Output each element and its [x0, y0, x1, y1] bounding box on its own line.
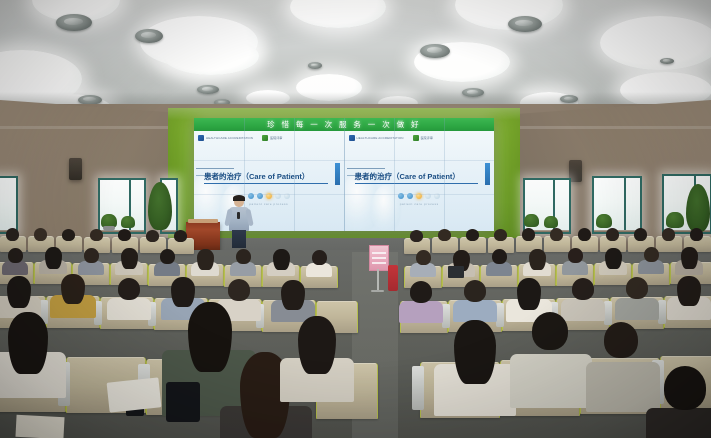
step-dot-active	[266, 193, 272, 199]
hair	[273, 249, 290, 270]
wall-speaker-left	[69, 158, 82, 180]
torso	[510, 354, 592, 408]
hair	[281, 280, 305, 310]
torso	[230, 262, 256, 276]
plant-pot-left	[103, 226, 115, 231]
head	[662, 228, 675, 241]
slide-title: 患者的治疗（Care of Patient）	[355, 171, 479, 184]
notebook-on-lap	[107, 377, 162, 412]
head	[160, 249, 175, 264]
logo-secondary-label: 医院评审	[270, 137, 282, 140]
seat-armrest	[412, 366, 424, 410]
torso	[638, 260, 664, 274]
head	[690, 228, 703, 241]
head	[492, 249, 507, 264]
logo-secondary: 医院评审	[413, 135, 433, 141]
audience-member	[4, 248, 26, 272]
audience-member	[118, 247, 140, 272]
step-dot	[434, 193, 440, 199]
hair	[188, 302, 232, 372]
audience-member-foreground	[0, 312, 56, 384]
audience-member	[34, 228, 48, 242]
audience-member	[62, 229, 76, 242]
torso	[486, 262, 512, 276]
head	[532, 312, 568, 350]
head	[604, 322, 638, 358]
hair	[121, 248, 138, 269]
head	[438, 229, 451, 241]
audience-member	[522, 228, 536, 242]
logo-mark-icon	[198, 135, 204, 141]
plant-right-4	[666, 212, 684, 228]
sign-base	[371, 290, 384, 292]
torso	[78, 261, 104, 275]
seat-armrest	[658, 300, 666, 324]
window-mullion	[624, 178, 626, 232]
ceiling-light	[600, 16, 711, 70]
head	[8, 248, 23, 263]
logo-primary: HEALTHCARE ACCREDITATION	[349, 135, 404, 141]
audience-member	[488, 249, 510, 273]
head	[146, 230, 159, 242]
plant-right-2	[544, 216, 558, 228]
ceiling-light	[290, 0, 386, 28]
audience-member	[678, 246, 700, 272]
audience-member	[512, 278, 546, 316]
audience-member	[564, 248, 586, 272]
audience-member-foreground	[446, 320, 504, 398]
plant-left-2	[121, 216, 135, 228]
hair	[677, 276, 701, 306]
ceiling-dome-speaker	[560, 95, 578, 103]
hair	[517, 278, 541, 310]
slide-rule	[347, 168, 385, 169]
audience-member	[194, 248, 216, 273]
head	[118, 278, 140, 300]
sign-pole	[377, 269, 379, 291]
head	[84, 248, 99, 263]
head	[236, 249, 251, 264]
audience-member	[640, 247, 662, 271]
audience-member	[578, 228, 592, 242]
sign-panel	[369, 245, 389, 271]
head	[118, 229, 131, 241]
audience-member-foreground	[596, 322, 648, 392]
plant-right-1	[524, 214, 539, 227]
audience-member	[308, 250, 330, 274]
hair	[197, 249, 214, 270]
slide-caption: patient care process	[400, 202, 439, 206]
ceiling-dome-speaker	[462, 88, 484, 97]
torso	[646, 408, 711, 438]
wall-trim-left	[0, 126, 196, 129]
head	[62, 229, 75, 241]
head	[644, 247, 659, 262]
torso	[399, 301, 443, 323]
step-dot	[398, 193, 404, 199]
torso	[586, 362, 660, 412]
ceiling-dome-speaker	[135, 29, 163, 43]
head	[90, 229, 103, 241]
screen-panel-right: HEALTHCARE ACCREDITATION 医院评审 患者的治疗（Care…	[344, 131, 495, 231]
torso	[154, 262, 180, 276]
ceiling-light	[296, 74, 362, 101]
logo-secondary: 医院评审	[262, 135, 282, 141]
audience-member	[6, 228, 20, 242]
audience-member	[526, 248, 548, 273]
head	[410, 230, 423, 242]
hand-graphic	[371, 185, 401, 231]
audience-member	[90, 229, 104, 242]
audience-member	[412, 250, 434, 274]
slide-accent-bar	[335, 163, 340, 185]
head	[174, 230, 187, 242]
head	[634, 228, 647, 241]
audience-member	[690, 228, 704, 242]
pink-sign-stand	[369, 245, 387, 297]
slide-rule	[196, 168, 234, 169]
audience-member	[620, 277, 654, 314]
step-dot	[284, 193, 290, 199]
red-bag	[388, 265, 398, 291]
ceiling-dome-speaker	[508, 16, 542, 32]
logo-primary-label: HEALTHCARE ACCREDITATION	[357, 137, 404, 140]
slide-accent-bar	[485, 163, 490, 185]
logo-primary: HEALTHCARE ACCREDITATION	[198, 135, 253, 141]
audience-member	[270, 248, 292, 273]
audience-member	[494, 229, 508, 242]
head	[606, 228, 619, 241]
audience-member	[458, 280, 492, 316]
audience-member	[232, 249, 254, 273]
step-indicator-group	[248, 193, 290, 199]
head	[572, 278, 594, 300]
hair	[61, 274, 85, 304]
logo-mark-icon	[349, 135, 355, 141]
torso	[2, 261, 28, 275]
lecture-hall-photo: 珍 惜 每 一 次 服 务 一 次 做 好 HEALTHCARE ACCREDI…	[0, 0, 711, 438]
logo-primary-label: HEALTHCARE ACCREDITATION	[206, 137, 253, 140]
head	[568, 248, 583, 263]
audience-member	[466, 229, 480, 242]
hair	[681, 247, 698, 269]
slide-caption: patient care process	[249, 202, 288, 206]
audience-member	[606, 228, 620, 242]
step-indicator-group	[398, 193, 440, 199]
ceiling-dome-speaker	[56, 14, 92, 31]
step-dot	[425, 193, 431, 199]
logo-secondary-label: 医院评审	[421, 137, 433, 140]
head	[416, 250, 431, 265]
torso	[306, 263, 332, 277]
head	[34, 228, 47, 241]
audience-member-foreground	[290, 316, 344, 386]
audience-member-foreground	[656, 366, 711, 438]
hair	[298, 316, 336, 374]
presenter	[228, 196, 250, 248]
step-dot-active	[416, 193, 422, 199]
microphone	[237, 212, 240, 219]
window-left-1	[0, 176, 18, 234]
audience-member	[56, 274, 90, 312]
audience-member	[2, 276, 36, 312]
torso	[615, 298, 659, 320]
torso	[562, 261, 588, 275]
ceiling-dome-speaker	[308, 62, 322, 69]
slide-title: 患者的治疗（Care of Patient）	[204, 171, 328, 184]
paper-on-seat	[15, 415, 64, 438]
head	[494, 229, 507, 241]
head	[550, 228, 563, 241]
head	[410, 281, 432, 303]
hair	[605, 248, 622, 269]
torso	[453, 300, 497, 322]
audience-member-foreground	[522, 312, 578, 388]
head	[228, 279, 250, 301]
step-dot	[275, 193, 281, 199]
audience-member	[276, 280, 310, 316]
hair	[454, 320, 496, 384]
step-dot	[407, 193, 413, 199]
head	[6, 228, 19, 241]
ceiling-light	[0, 50, 82, 108]
audience-member	[602, 247, 624, 272]
audience-member	[662, 228, 676, 242]
screen-logo-row: HEALTHCARE ACCREDITATION 医院评审	[349, 135, 433, 141]
plant-right-3	[596, 214, 612, 228]
screen-logo-row: HEALTHCARE ACCREDITATION 医院评审	[198, 135, 282, 141]
head	[466, 229, 479, 241]
wall-trim-right	[516, 126, 711, 129]
torso	[410, 263, 436, 277]
audience-member	[42, 246, 64, 272]
audience-member	[156, 249, 178, 273]
torso	[107, 298, 151, 320]
audience-member	[118, 229, 132, 242]
audience-member	[438, 229, 452, 242]
audience-member	[146, 230, 160, 243]
audience-member	[112, 278, 146, 314]
ceiling	[0, 0, 711, 118]
hair	[45, 247, 62, 269]
ceiling-light	[163, 37, 259, 75]
head	[626, 277, 648, 299]
audience-member	[672, 276, 706, 314]
ceiling-dome-speaker	[660, 58, 674, 64]
logo-mark-icon	[262, 135, 268, 141]
logo-mark-icon	[413, 135, 419, 141]
tablet-in-hand	[448, 266, 464, 278]
audience-member	[410, 230, 424, 243]
audience-member	[550, 228, 564, 242]
hair	[8, 312, 48, 374]
head	[312, 250, 327, 265]
presenter-legs	[232, 230, 246, 248]
head	[464, 280, 486, 302]
audience-member	[80, 248, 102, 272]
step-dot	[257, 193, 263, 199]
ceiling-dome-speaker	[197, 85, 219, 94]
head	[578, 228, 591, 241]
ceiling-dome-speaker	[420, 44, 450, 58]
audience-member	[404, 281, 438, 317]
hair	[529, 249, 546, 270]
audience-member	[634, 228, 648, 242]
audience-member	[566, 278, 600, 315]
screen-panel-left: HEALTHCARE ACCREDITATION 医院评审 患者的治疗（Care…	[194, 131, 344, 231]
head	[522, 228, 535, 241]
head	[664, 366, 706, 410]
bag-on-seat	[166, 382, 200, 422]
screen-banner-text: 珍 惜 每 一 次 服 务 一 次 做 好	[194, 118, 494, 131]
presenter-hair	[233, 195, 245, 201]
audience-member	[174, 230, 188, 243]
hair	[7, 276, 31, 308]
